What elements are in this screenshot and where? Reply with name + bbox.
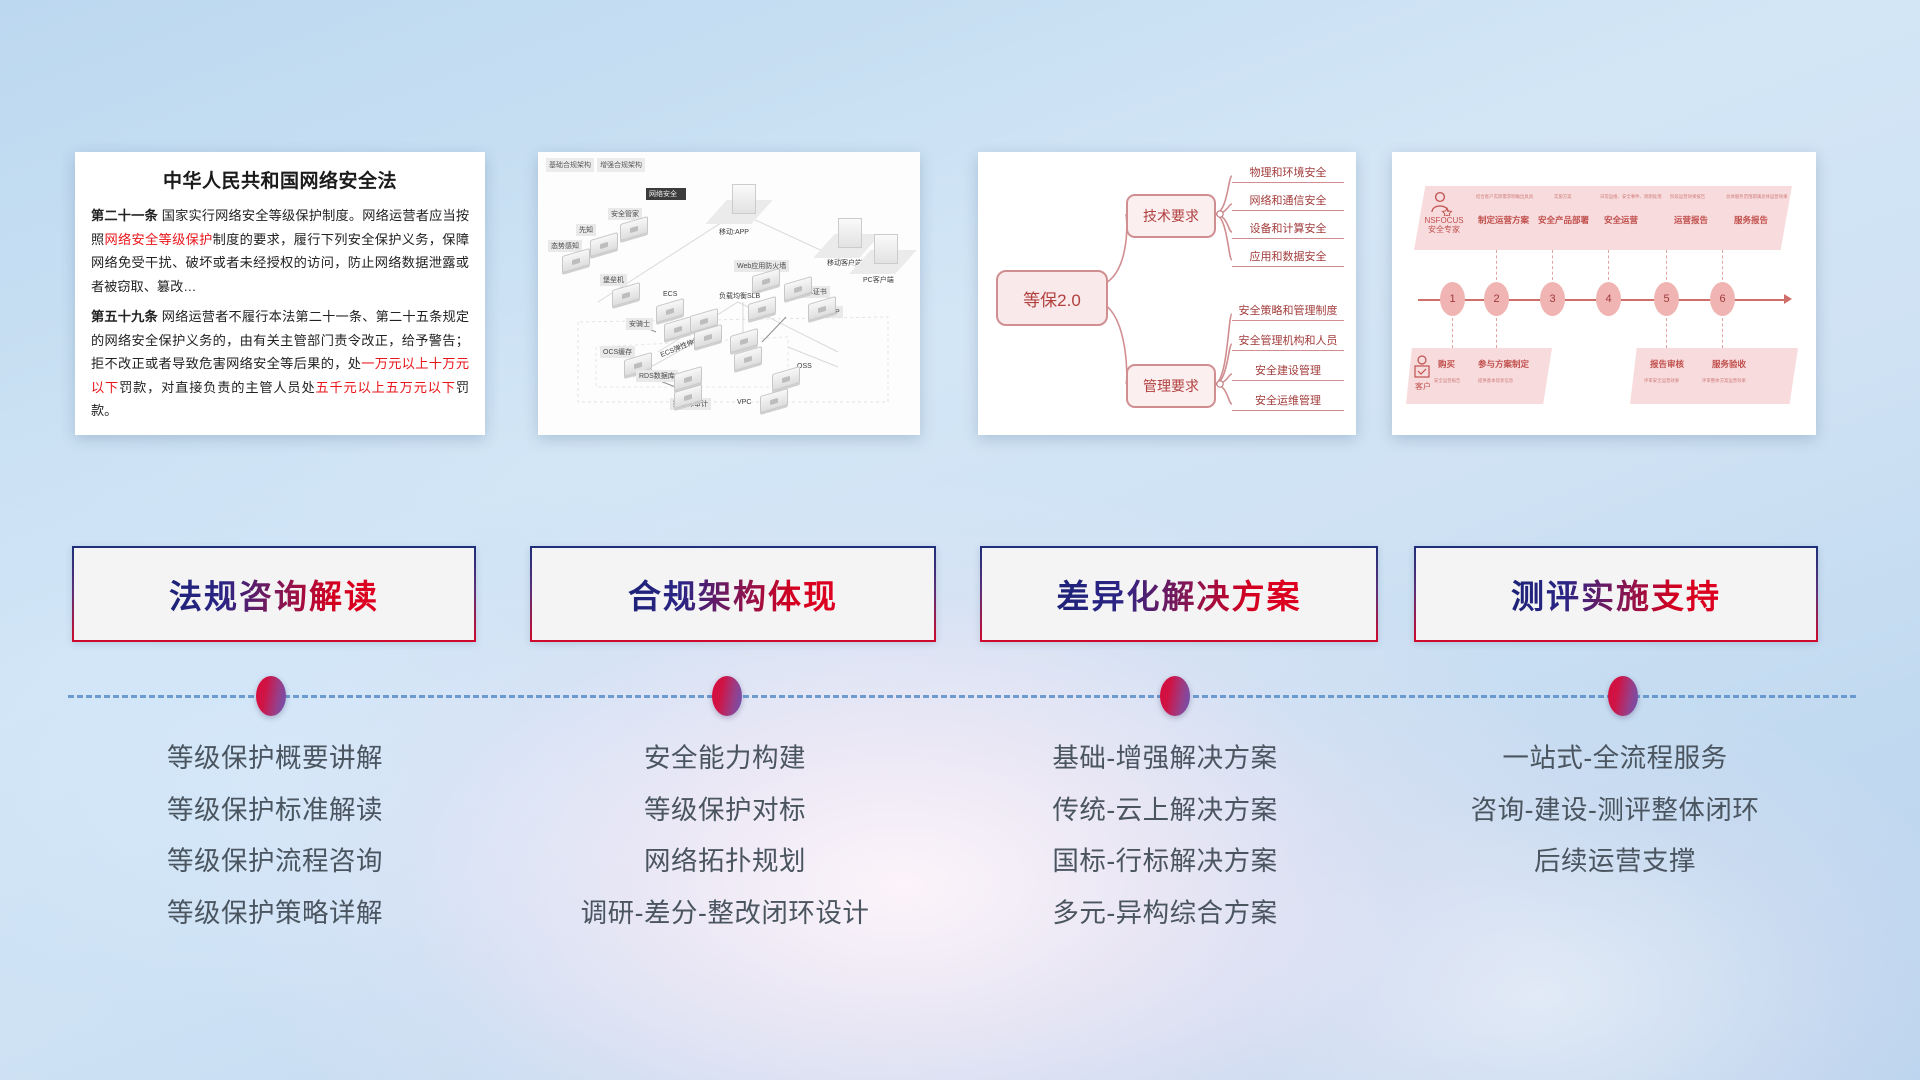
timeline-dot-3[interactable] xyxy=(1160,676,1190,716)
bullet-item: 等级保护流程咨询 xyxy=(60,848,490,875)
bullet-item: 多元-异构综合方案 xyxy=(965,900,1365,927)
header-label-3: 差异化解决方案 xyxy=(1057,570,1302,618)
bullet-item: 等级保护概要讲解 xyxy=(60,745,490,772)
bullet-column-2: 安全能力构建 等级保护对标 网络拓扑规划 调研-差分-整改闭环设计 xyxy=(510,745,940,951)
bullet-item: 国标-行标解决方案 xyxy=(965,848,1365,875)
header-box-compliance-architecture[interactable]: 合规架构体现 xyxy=(530,546,936,642)
timeline-dashed-line xyxy=(68,695,1856,698)
bullet-item: 一站式-全流程服务 xyxy=(1400,745,1830,772)
bullet-item: 基础-增强解决方案 xyxy=(965,745,1365,772)
bullet-item: 等级保护标准解读 xyxy=(60,797,490,824)
header-label-4: 测评实施支持 xyxy=(1511,570,1721,618)
header-box-evaluation-support[interactable]: 测评实施支持 xyxy=(1414,546,1818,642)
bullet-item: 等级保护对标 xyxy=(510,797,940,824)
header-box-regulation-consulting[interactable]: 法规咨询解读 xyxy=(72,546,476,642)
bullet-item: 网络拓扑规划 xyxy=(510,848,940,875)
header-label-1: 法规咨询解读 xyxy=(169,570,379,618)
bullet-item: 调研-差分-整改闭环设计 xyxy=(510,900,940,927)
timeline-dot-1[interactable] xyxy=(256,676,286,716)
bullet-item: 安全能力构建 xyxy=(510,745,940,772)
bullet-item: 传统-云上解决方案 xyxy=(965,797,1365,824)
bullet-column-1: 等级保护概要讲解 等级保护标准解读 等级保护流程咨询 等级保护策略详解 xyxy=(60,745,490,951)
header-box-differentiated-solution[interactable]: 差异化解决方案 xyxy=(980,546,1378,642)
bullet-item: 咨询-建设-测评整体闭环 xyxy=(1400,797,1830,824)
bullet-column-3: 基础-增强解决方案 传统-云上解决方案 国标-行标解决方案 多元-异构综合方案 xyxy=(965,745,1365,951)
bullet-column-4: 一站式-全流程服务 咨询-建设-测评整体闭环 后续运营支撑 xyxy=(1400,745,1830,900)
bullet-item: 后续运营支撑 xyxy=(1400,848,1830,875)
header-label-2: 合规架构体现 xyxy=(628,570,838,618)
bullet-item: 等级保护策略详解 xyxy=(60,900,490,927)
timeline-dot-4[interactable] xyxy=(1608,676,1638,716)
timeline-dot-2[interactable] xyxy=(712,676,742,716)
